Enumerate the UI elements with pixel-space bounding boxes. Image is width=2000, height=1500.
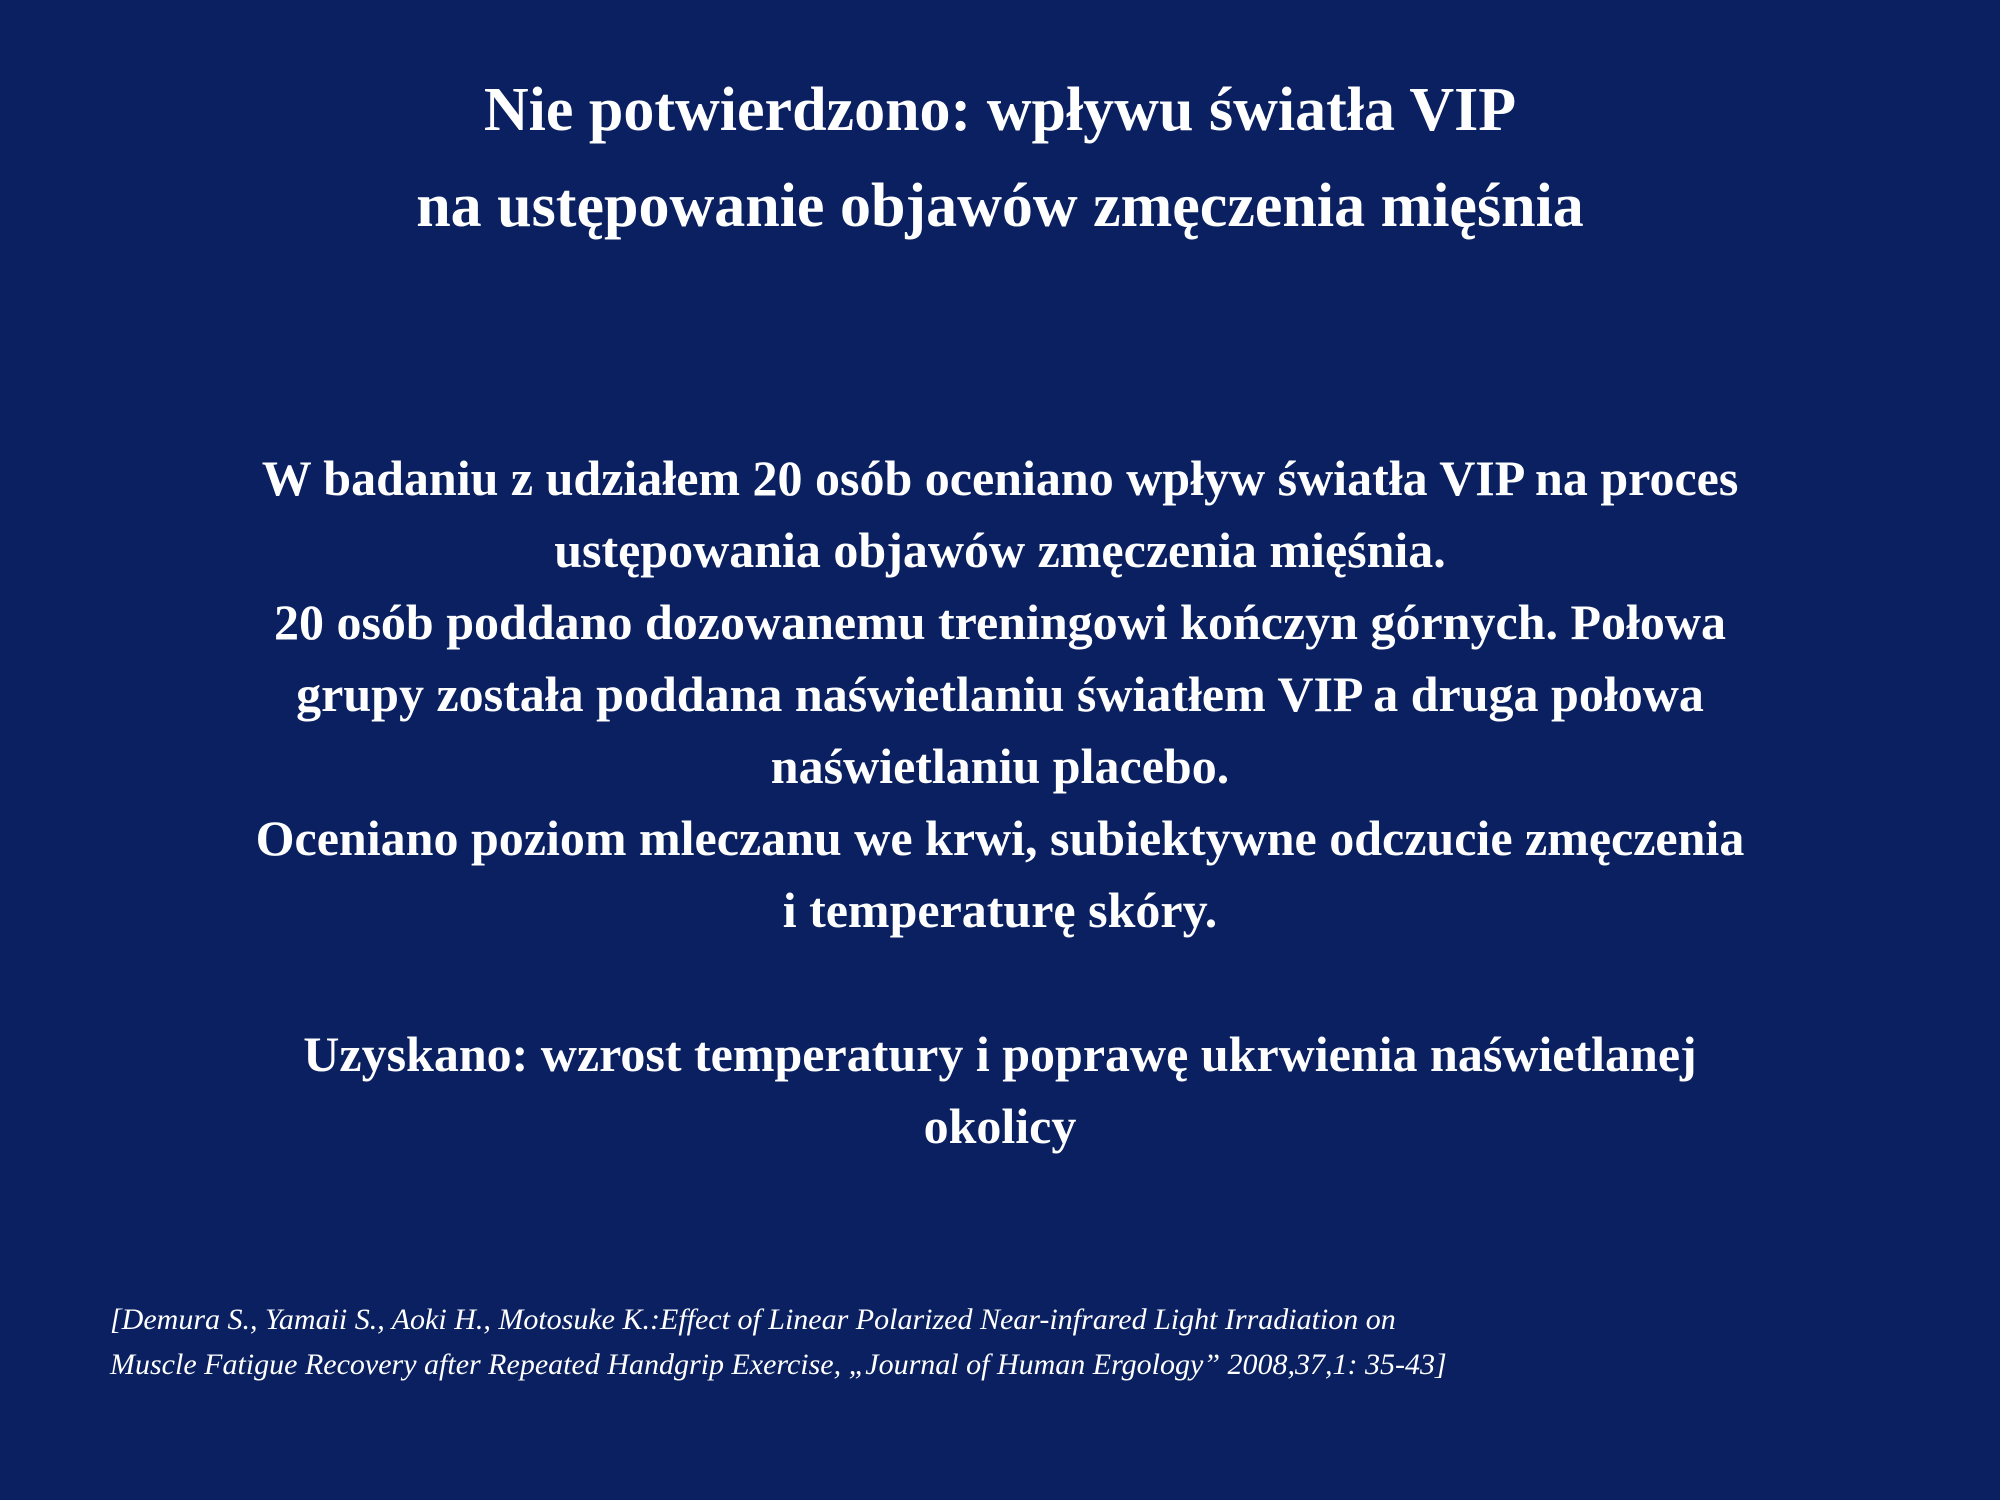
body-line-1: W badaniu z udziałem 20 osób oceniano wp… <box>60 442 1940 514</box>
body-line-7: i temperaturę skóry. <box>60 874 1940 946</box>
citation-line-2: Muscle Fatigue Recovery after Repeated H… <box>110 1342 1940 1387</box>
title-line-1: Nie potwierdzono: wpływu światła VIP <box>60 62 1940 158</box>
body-line-9: okolicy <box>60 1090 1940 1162</box>
title-line-2: na ustępowanie objawów zmęczenia mięśnia <box>60 158 1940 254</box>
slide-citation: [Demura S., Yamaii S., Aoki H., Motosuke… <box>110 1297 1940 1387</box>
body-line-4: grupy została poddana naświetlaniu świat… <box>60 658 1940 730</box>
body-line-8: Uzyskano: wzrost temperatury i poprawę u… <box>60 1018 1940 1090</box>
slide-body: W badaniu z udziałem 20 osób oceniano wp… <box>60 442 1940 1162</box>
slide-title: Nie potwierdzono: wpływu światła VIP na … <box>60 62 1940 254</box>
body-line-2: ustępowania objawów zmęczenia mięśnia. <box>60 514 1940 586</box>
body-line-spacer <box>60 946 1940 1018</box>
body-line-6: Oceniano poziom mleczanu we krwi, subiek… <box>60 802 1940 874</box>
slide-canvas: Nie potwierdzono: wpływu światła VIP na … <box>0 0 2000 1500</box>
body-line-5: naświetlaniu placebo. <box>60 730 1940 802</box>
body-line-3: 20 osób poddano dozowanemu treningowi ko… <box>60 586 1940 658</box>
citation-line-1: [Demura S., Yamaii S., Aoki H., Motosuke… <box>110 1297 1940 1342</box>
